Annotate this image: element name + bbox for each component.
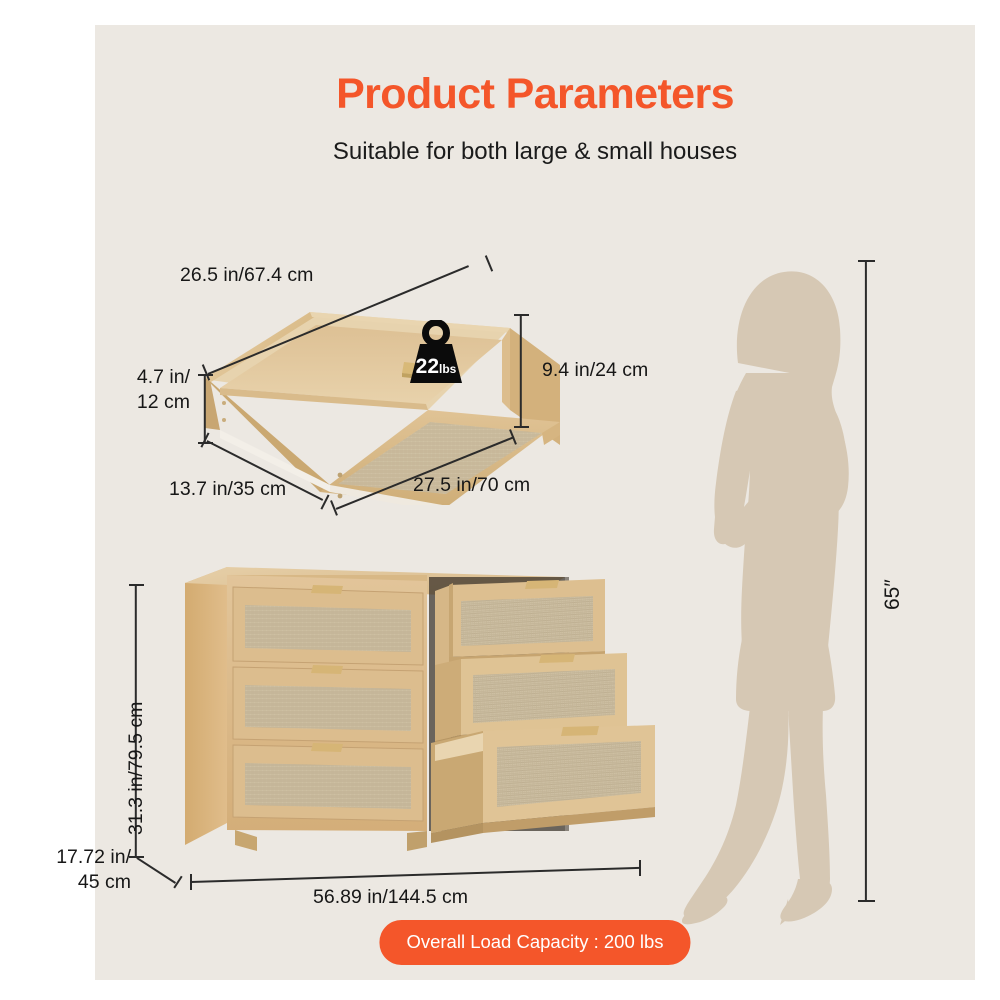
silhouette-height-label: 65″	[880, 579, 907, 610]
drawer-left-height-cap-top	[198, 374, 213, 376]
drawer-depth-label: 13.7 in/35 cm	[169, 477, 286, 502]
weight-unit: lbs	[439, 362, 456, 376]
woman-silhouette	[680, 255, 895, 925]
dresser-width-label: 56.89 in/144.5 cm	[313, 885, 468, 910]
drawer-right-height-line	[520, 316, 522, 428]
drawer-illustration: 22lbs	[180, 270, 610, 505]
dresser-width-cap-left	[190, 874, 192, 890]
dresser-height-label: 31.3 in/79.5 cm	[124, 702, 149, 835]
dresser-width-line	[191, 867, 641, 883]
weight-value: 22	[416, 355, 439, 378]
dresser-height-cap-top	[129, 584, 144, 586]
drawer-left-height-line	[204, 376, 206, 444]
dresser-width-cap-right	[639, 860, 641, 876]
silhouette-height-cap-top	[858, 260, 875, 262]
drawer-right-height-cap-top	[514, 314, 529, 316]
drawer-right-height-cap-bottom	[514, 426, 529, 428]
drawer-bottom-width-label: 27.5 in/70 cm	[413, 473, 530, 498]
silhouette-height-cap-bottom	[858, 900, 875, 902]
load-capacity-badge: Overall Load Capacity : 200 lbs	[379, 920, 690, 965]
page-title: Product Parameters	[95, 70, 975, 119]
content-panel: Product Parameters Suitable for both lar…	[95, 25, 975, 980]
drawer-right-height-label: 9.4 in/24 cm	[542, 358, 648, 383]
dresser-depth-label: 17.72 in/ 45 cm	[13, 845, 131, 895]
drawer-top-width-label: 26.5 in/67.4 cm	[180, 263, 313, 288]
silhouette-height-line	[865, 262, 867, 902]
drawer-left-height-label: 4.7 in/ 12 cm	[102, 365, 190, 415]
dresser-illustration	[135, 555, 680, 865]
infographic-root: Product Parameters Suitable for both lar…	[0, 0, 1000, 1000]
weight-badge: 22lbs	[402, 320, 470, 390]
page-subtitle: Suitable for both large & small houses	[95, 138, 975, 166]
